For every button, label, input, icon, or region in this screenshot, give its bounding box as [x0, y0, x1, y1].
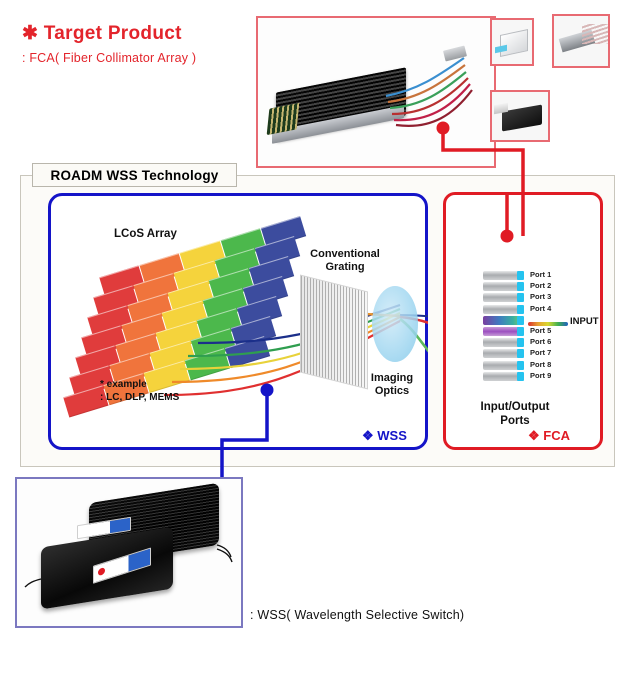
roadm-section-label-box: ROADM WSS Technology [32, 163, 237, 187]
port-row: Port 5 [483, 326, 531, 337]
io-ports-label-line1: Input/Output [481, 401, 550, 413]
port-row: Port 3 [483, 292, 531, 303]
product-photo-fca [256, 16, 496, 168]
fiber-strands [582, 24, 610, 44]
product-photo-wss [15, 477, 243, 628]
port-row: Port 7 [483, 348, 531, 359]
grating-label-line2: Grating [325, 261, 364, 273]
port-row: Port 9 [483, 371, 531, 382]
port-row: Port 4 [483, 304, 531, 315]
page-subtitle: : FCA( Fiber Collimator Array ) [22, 51, 272, 65]
port-label: Port 1 [530, 270, 551, 279]
port-label: Port 8 [530, 360, 551, 369]
input-label: INPUT [570, 316, 599, 327]
port-tip [517, 293, 524, 302]
page-title: ✱ Target Product [22, 22, 272, 45]
imaging-optics-label: Imaging Optics [356, 372, 428, 398]
port-tip [517, 271, 524, 280]
port-tip [517, 361, 524, 370]
port-row: Port 2 [483, 281, 531, 292]
black-module-body [502, 104, 542, 131]
port-tip [517, 282, 524, 291]
port-tip [517, 316, 524, 325]
port-row: Port 8 [483, 360, 531, 371]
port-label: Port 4 [530, 304, 551, 313]
thumbnail-fiber-array-closeup [552, 14, 610, 68]
io-ports-label: Input/Output Ports [455, 400, 575, 428]
port-label: Port 9 [530, 371, 551, 380]
port-row: Port 1 [483, 270, 531, 281]
thumbnail-collimator-white [490, 18, 534, 66]
ports-stack: Port 1Port 2Port 3Port 4Port 5Port 6Port… [483, 270, 531, 382]
port-row [483, 315, 531, 326]
port-label: Port 6 [530, 337, 551, 346]
wss-pigtails [17, 479, 245, 630]
input-beam-arrow [528, 322, 568, 326]
port-label: Port 5 [530, 326, 551, 335]
grating-label-line1: Conventional [310, 248, 380, 260]
io-ports-label-line2: Ports [500, 415, 529, 427]
port-tip [517, 305, 524, 314]
port-tip [517, 338, 524, 347]
wss-caption: : WSS( Wavelength Selective Switch) [250, 608, 464, 622]
port-tip [517, 349, 524, 358]
wss-badge: ❖ WSS [362, 428, 407, 444]
port-label: Port 7 [530, 348, 551, 357]
thumbnail-black-module [490, 90, 550, 142]
fca-badge: ❖ FCA [528, 428, 570, 444]
port-row: Port 6 [483, 337, 531, 348]
optical-beams [48, 193, 428, 450]
port-tip [517, 327, 524, 336]
grating-label: Conventional Grating [303, 248, 387, 274]
collimator-block [500, 29, 528, 57]
imaging-label-line2: Optics [375, 385, 409, 397]
imaging-optics-lens [372, 286, 418, 362]
example-note: * example : LC, DLP, MEMS [100, 378, 179, 404]
example-note-line2: : LC, DLP, MEMS [100, 392, 179, 403]
port-label: Port 3 [530, 292, 551, 301]
port-tip [517, 372, 524, 381]
header-block: ✱ Target Product : FCA( Fiber Collimator… [22, 22, 272, 65]
fiber-cables [258, 18, 498, 170]
imaging-label-line1: Imaging [371, 372, 413, 384]
example-note-line1: * example [100, 379, 147, 390]
port-label: Port 2 [530, 281, 551, 290]
roadm-section-label: ROADM WSS Technology [51, 168, 219, 183]
